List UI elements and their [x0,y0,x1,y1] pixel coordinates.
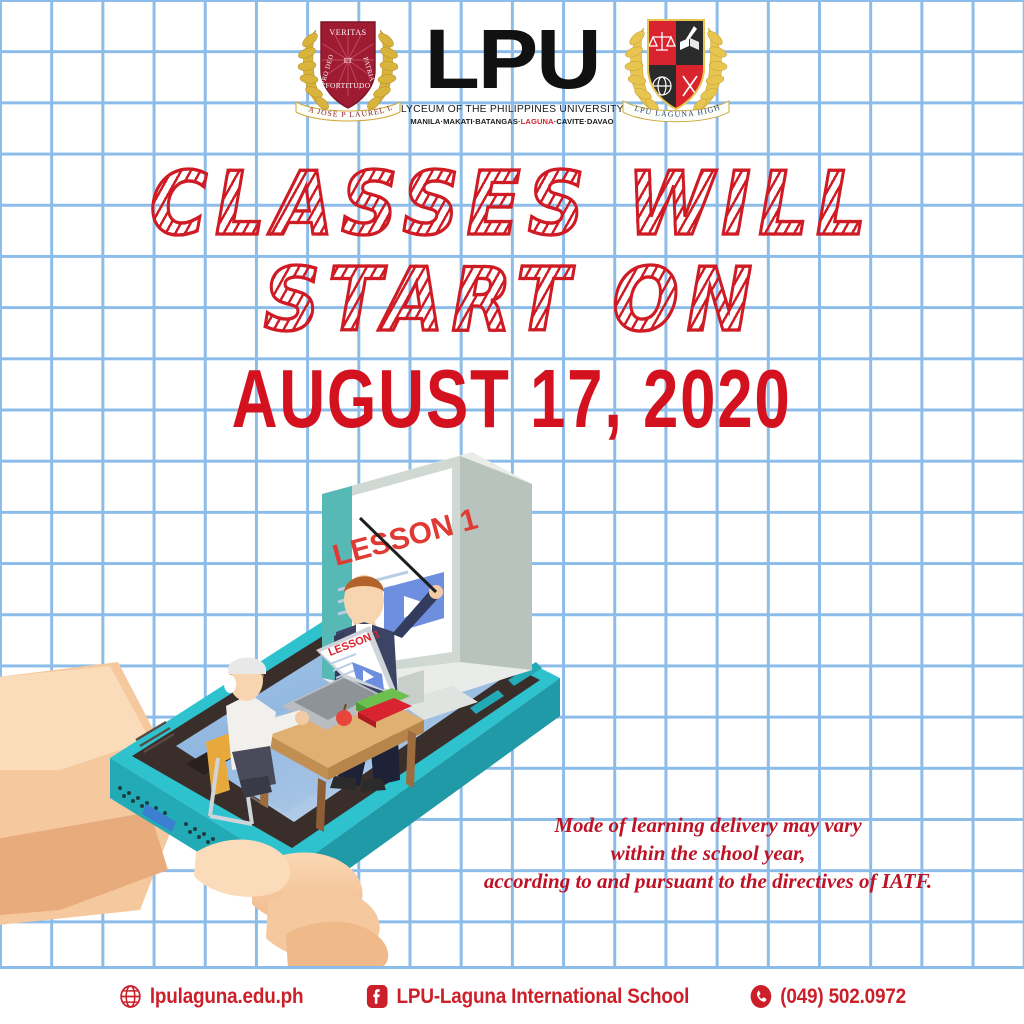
student-headphone-band [228,658,266,675]
campuses-after: ·CAVITE·DAVAO [554,117,614,126]
disclaimer-line-3: according to and pursuant to the directi… [438,868,978,896]
start-date-text: AUGUST 17, 2020 [232,358,792,441]
footer-website[interactable]: lpulaguna.edu.ph [120,984,304,1009]
lpu-campuses: MANILA·MAKATI·BATANGAS·LAGUNA·CAVITE·DAV… [410,117,613,126]
campuses-before: MANILA·MAKATI·BATANGAS· [410,117,520,126]
headline-line-1-text: CLASSES WILL [150,161,874,248]
headline-line-2-text: START ON [264,257,760,344]
disclaimer-note: Mode of learning delivery may vary withi… [438,812,978,896]
footer-facebook[interactable]: LPU-Laguna International School [366,984,689,1009]
disclaimer-line-1: Mode of learning delivery may vary [438,812,978,840]
start-date-line: AUGUST 17, 2020 [0,362,1024,436]
lpu-wordmark: LPU LYCEUM OF THE PHILIPPINES UNIVERSITY… [412,8,612,126]
headline-line-1: CLASSES WILL [0,166,1024,244]
svg-text:ET: ET [344,57,353,65]
facebook-icon [366,984,389,1009]
lpu-fullname: LYCEUM OF THE PHILIPPINES UNIVERSITY [401,104,624,115]
teacher-shoe-right [330,776,356,790]
footer-contact-bar: lpulaguna.edu.ph LPU-Laguna Internationa… [0,969,1024,1024]
disclaimer-line-2: within the school year, [438,840,978,868]
student-headphone-cup [224,675,236,693]
svg-text:VERITAS: VERITAS [329,28,366,37]
lpu-university-seal-icon: VERITAS ET FORTITUDO PRO DEO PATRIA A JO… [288,8,408,130]
footer-facebook-label: LPU-Laguna International School [396,985,689,1009]
footer-website-label: lpulaguna.edu.ph [150,985,304,1009]
footer-phone[interactable]: (049) 502.0972 [750,984,906,1009]
lpu-laguna-high-school-seal-icon: LPU LAGUNA HIGH SCHOOL [616,8,736,130]
header-logo-bar: VERITAS ET FORTITUDO PRO DEO PATRIA A JO… [0,8,1024,138]
campuses-highlight: LAGUNA [521,117,554,126]
monitor-right-edge [460,456,532,670]
poster-canvas: VERITAS ET FORTITUDO PRO DEO PATRIA A JO… [0,0,1024,1024]
svg-text:FORTITUDO: FORTITUDO [325,81,370,90]
student-hand [295,711,309,725]
phone-icon [750,984,773,1009]
globe-icon [120,984,143,1009]
footer-phone-label: (049) 502.0972 [780,985,906,1009]
apple [336,710,352,726]
lpu-acronym: LPU [425,20,600,100]
headline-line-2: START ON [0,262,1024,340]
